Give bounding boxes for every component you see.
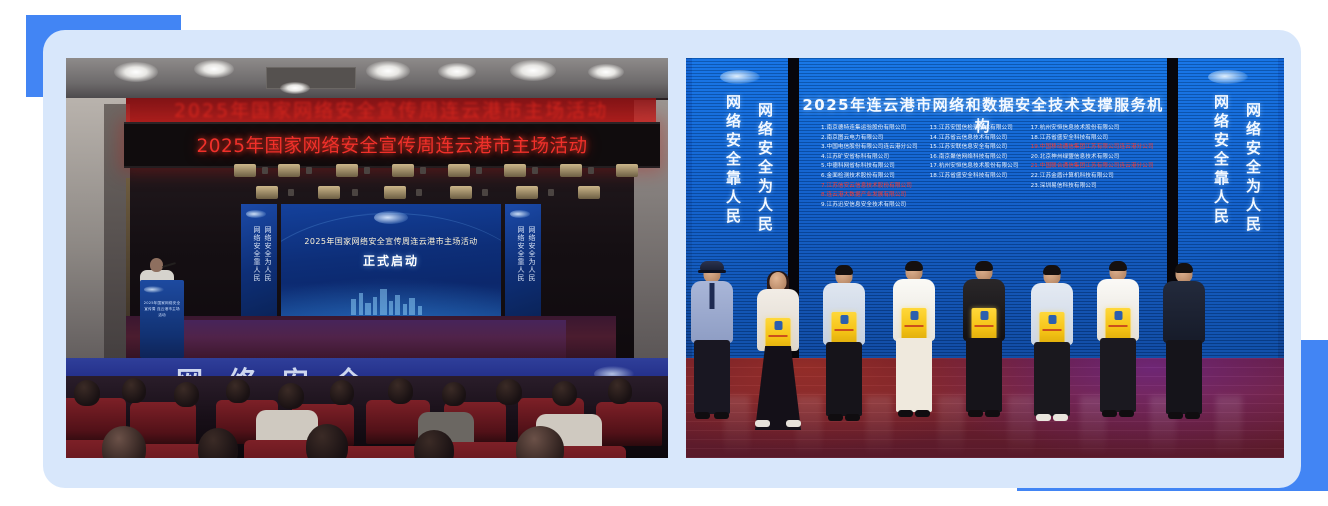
person-shoe: [755, 420, 770, 427]
organization-list: 1.南京德特连集运验股份有限公司 2.南京图云电力有限公司 3.中国电信股份有限…: [821, 124, 1145, 210]
led-banner-text: 2025年国家网络安全宣传周连云港市主场活动: [196, 132, 587, 158]
person-shoe: [1168, 412, 1183, 419]
list-item: 17.杭州安恒信息技术股份有限公司: [930, 162, 1019, 172]
person-shoe: [786, 420, 801, 427]
audience-head: [608, 378, 632, 404]
cybersecurity-week-logo-icon: [720, 70, 760, 84]
led-banner-reflection-text: 2025年国家网络安全宣传周连云港市主场活动: [126, 98, 656, 124]
audience-head: [330, 380, 354, 405]
organization-list-column-3: 17.杭州安恒信息技术股份有限公司 18.江苏省盛安全科技有限公司 19.中国移…: [1031, 124, 1154, 210]
person-shoe: [1036, 414, 1051, 421]
person-shoe: [1119, 410, 1134, 417]
person-legs: [694, 340, 730, 414]
person-hair: [835, 265, 853, 275]
list-item: 18.江苏省盛安全科技有限公司: [1031, 134, 1154, 144]
person-shoe: [1185, 412, 1200, 419]
person-shoe: [845, 414, 860, 421]
lighting-truss-row-1: [226, 164, 656, 178]
list-item: 19.中国移动通信集团江苏有限公司连云港分公司: [1031, 143, 1154, 153]
ceiling-spotlight: [510, 60, 556, 81]
led-banner: 2025年国家网络安全宣传周连云港市主场活动: [124, 122, 660, 168]
ceiling-spotlight: [366, 61, 410, 81]
audience-head: [174, 382, 199, 407]
list-item: 5.中德科网省标科技有限公司: [821, 162, 918, 172]
person-shoe: [985, 410, 1000, 417]
stage-screen-right-panel: 网络安全为人民 网络安全靠人民: [505, 204, 541, 319]
led-banner-left-text-b: 网络安全靠人民: [723, 94, 742, 227]
list-item: 3.中国电信股份有限公司连云港分公司: [821, 143, 918, 153]
list-item: 15.江苏安联信息安全有限公司: [930, 143, 1019, 153]
stage-pole: [126, 178, 130, 338]
award-plaque: [902, 308, 927, 340]
cybersecurity-week-logo-icon: [510, 210, 530, 218]
person-hair: [1109, 261, 1127, 271]
person-shoe: [695, 412, 710, 419]
stage-floor-light: [146, 320, 566, 360]
audience-seating: [66, 376, 668, 458]
audience-head: [122, 378, 146, 403]
organization-list-column-1: 1.南京德特连集运验股份有限公司 2.南京图云电力有限公司 3.中国电信股份有限…: [821, 124, 918, 210]
list-item: 18.江苏省盛安全科技有限公司: [930, 172, 1019, 182]
stage-screen-right-panel-text-b: 网络安全靠人民: [516, 226, 526, 282]
person-legs: [1034, 342, 1070, 416]
stage-screen-left-panel-text-a: 网络安全为人民: [263, 226, 273, 282]
cybersecurity-week-logo-icon: [374, 211, 408, 224]
ceiling-spotlight: [280, 82, 310, 94]
person-legs: [826, 342, 862, 416]
stage-main-screen: 2025年国家网络安全宣传周连云港市主场活动 正式启动: [281, 204, 501, 319]
list-item: 16.南京聚信网络科技有限公司: [930, 153, 1019, 163]
list-item: 9.江苏迅安信息安全技术有限公司: [821, 201, 918, 211]
podium: 2025年国家网络安全宣传周 连云港市主场活动: [140, 280, 184, 358]
stage-screen-title: 2025年国家网络安全宣传周连云港市主场活动: [281, 236, 501, 247]
person-legs: [1166, 340, 1202, 414]
ceiling-spotlight: [194, 60, 234, 78]
person-hair: [975, 261, 993, 271]
ceiling-spotlight: [438, 63, 476, 80]
photo-award-ceremony[interactable]: 网络安全为人民 网络安全靠人民 2025年连云港市网络和数据安全技术支撑服务机构…: [686, 58, 1284, 458]
list-item: 23.深圳易信科技有限公司: [1031, 182, 1154, 192]
list-item: 6.金面检测技术股份有限公司: [821, 172, 918, 182]
list-item: 21.中国联合通信集团江苏有限公司连云港分公司: [1031, 162, 1154, 172]
person-shoe: [1053, 414, 1068, 421]
organization-list-column-2: 13.江苏安国信检测技术有限公司 14.江苏省云信息技术有限公司 15.江苏安联…: [930, 124, 1019, 210]
list-item: 14.江苏省云信息技术有限公司: [930, 134, 1019, 144]
person-hair: [905, 261, 923, 271]
audience-head: [226, 379, 250, 403]
stage-screen-left-panel-text-b: 网络安全靠人民: [252, 226, 262, 282]
ceiling-spotlight: [114, 62, 158, 82]
person-hair: [1175, 263, 1193, 273]
necktie: [710, 283, 715, 309]
podium-logo-icon: [144, 286, 164, 293]
ceiling-spotlight: [588, 64, 624, 80]
podium-text: 2025年国家网络安全宣传周 连云港市主场活动: [143, 300, 181, 318]
screen-skyline-graphic: [281, 283, 501, 319]
stage-screen-left-panel: 网络安全为人民 网络安全靠人民: [241, 204, 277, 319]
person-shoe: [968, 410, 983, 417]
person-legs: [966, 338, 1002, 412]
person-shoe: [714, 412, 729, 419]
person-legs: [896, 338, 932, 412]
award-plaque: [1040, 312, 1065, 344]
speaker-head: [150, 258, 163, 272]
award-plaque: [972, 308, 997, 340]
list-item: 4.江苏矿安省标科有限公司: [821, 153, 918, 163]
list-item: 1.南京德特连集运验股份有限公司: [821, 124, 918, 134]
award-plaque: [832, 312, 857, 344]
person-hair: [1043, 265, 1061, 275]
audience-head: [442, 382, 466, 406]
led-banner-left-text-a: 网络安全为人民: [755, 102, 774, 235]
stage-screen-right-panel-text-a: 网络安全为人民: [527, 226, 537, 282]
stage-screen-subtitle: 正式启动: [281, 252, 501, 269]
award-plaque: [766, 318, 791, 350]
led-banner-right-text-a: 网络安全为人民: [1243, 102, 1262, 235]
police-cap-icon: [700, 261, 724, 271]
audience-head: [496, 379, 522, 405]
person-shoe: [915, 410, 930, 417]
person-shoe: [898, 410, 913, 417]
person-legs: [1100, 338, 1136, 412]
led-banner-reflection: 2025年国家网络安全宣传周连云港市主场活动: [126, 98, 656, 124]
audience-head: [74, 380, 100, 406]
list-item: 22.江苏金盾计算机科技有限公司: [1031, 172, 1154, 182]
award-plaque: [1106, 308, 1131, 340]
audience-head: [552, 381, 577, 406]
list-item: 7.江苏信安云信息技术股份有限公司: [821, 182, 918, 192]
list-item: 17.杭州安恒信息技术股份有限公司: [1031, 124, 1154, 134]
audience-head: [388, 378, 413, 404]
stage-screen-assembly: 网络安全为人民 网络安全靠人民 2025年国家网络安全宣传周连云港市主场活动 正…: [241, 204, 541, 319]
list-item: 2.南京图云电力有限公司: [821, 134, 918, 144]
lighting-truss-row-2: [226, 186, 656, 200]
audience-head: [278, 383, 304, 409]
photo-auditorium-opening-ceremony[interactable]: 2025年国家网络安全宣传周连云港市主场活动 2025年国家网络安全宣传周连云港…: [66, 58, 668, 458]
person-shoe: [828, 414, 843, 421]
list-item: 20.北京神州绿盟信息技术有限公司: [1031, 153, 1154, 163]
list-item: 13.江苏安国信检测技术有限公司: [930, 124, 1019, 134]
person-shoe: [1102, 410, 1117, 417]
cybersecurity-week-logo-icon: [1208, 70, 1248, 84]
person-torso: [1163, 281, 1205, 343]
led-banner-right-text-b: 网络安全靠人民: [1211, 94, 1230, 227]
cybersecurity-week-logo-icon: [246, 210, 266, 218]
list-item: 8.连云港大数据产业发展有限公司: [821, 191, 918, 201]
